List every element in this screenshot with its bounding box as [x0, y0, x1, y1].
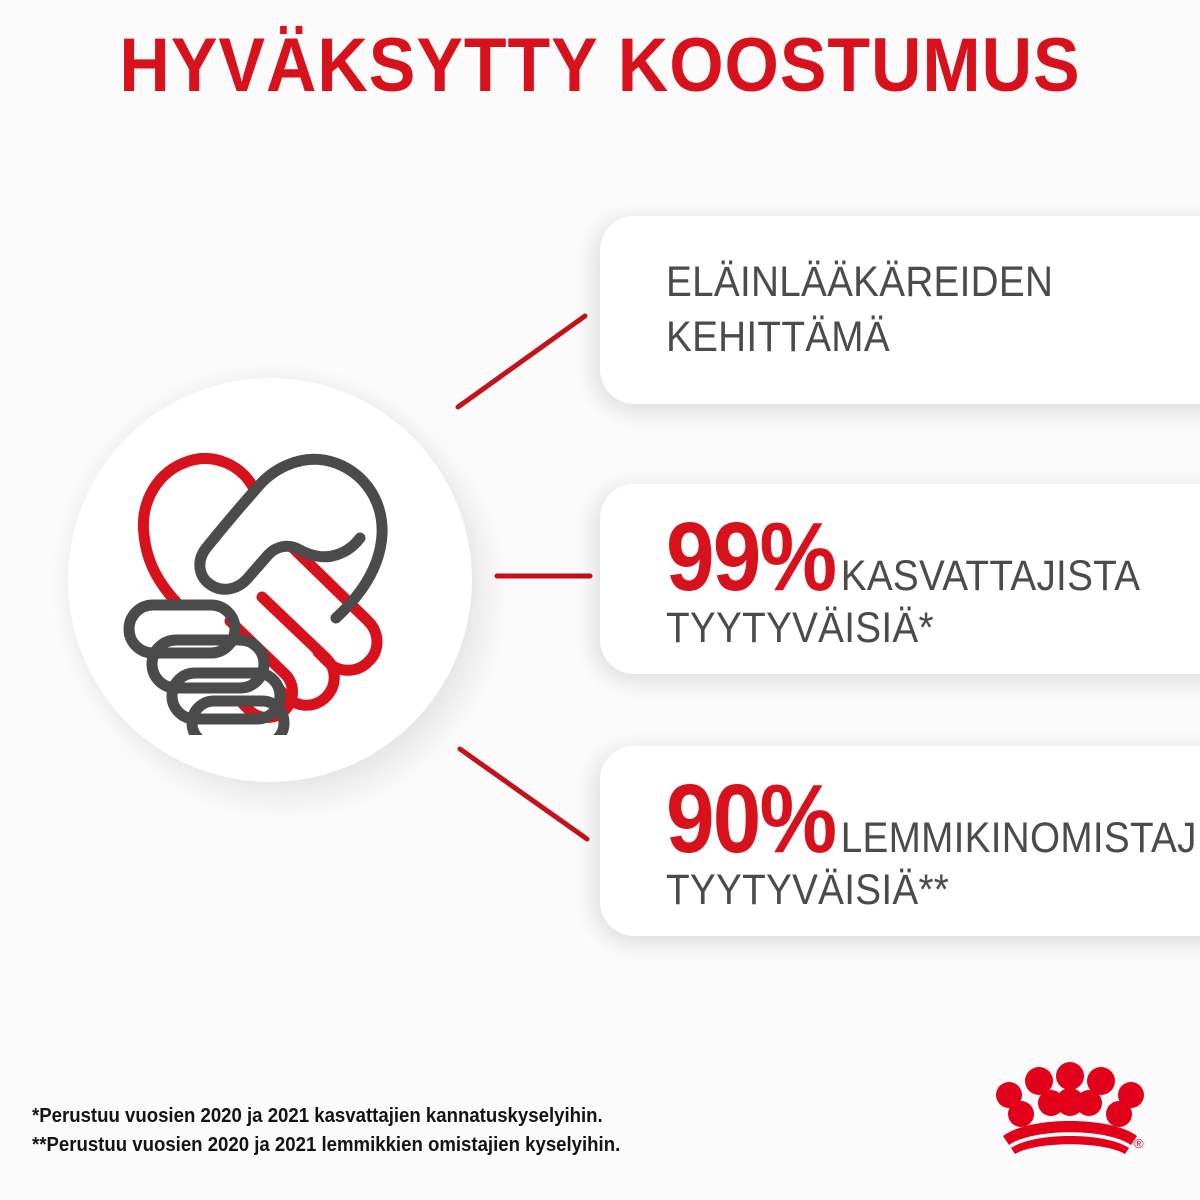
card-3-stat-line: 90%LEMMIKINOMISTAJISTA — [666, 770, 1161, 867]
info-card-owner-satisfaction: 90%LEMMIKINOMISTAJISTA TYYTYVÄISIÄ** — [600, 746, 1200, 936]
card-3-percent: 90% — [666, 764, 835, 873]
card-2-stat-line: 99%KASVATTAJISTA — [666, 508, 1161, 605]
footnote-line-2: **Perustuu vuosien 2020 ja 2021 lemmikki… — [32, 1131, 620, 1160]
royal-canin-crown-logo: ® — [995, 1058, 1145, 1156]
card-2-percent: 99% — [666, 502, 835, 611]
connector-line-1 — [450, 306, 595, 416]
footnotes: *Perustuu vuosien 2020 ja 2021 kasvattaj… — [32, 1102, 620, 1160]
card-3-word: LEMMIKINOMISTAJISTA — [841, 814, 1200, 862]
footnote-line-1: *Perustuu vuosien 2020 ja 2021 kasvattaj… — [32, 1102, 620, 1131]
page-title: HYVÄKSYTTY KOOSTUMUS — [48, 26, 1152, 106]
info-card-breeder-satisfaction: 99%KASVATTAJISTA TYYTYVÄISIÄ* — [600, 484, 1200, 674]
info-card-vet-developed: ELÄINLÄÄKÄREIDEN KEHITTÄMÄ — [600, 216, 1200, 404]
card-3-line-2: TYYTYVÄISIÄ** — [666, 869, 1161, 912]
card-1-line-2: KEHITTÄMÄ — [666, 310, 1161, 365]
infographic-canvas: HYVÄKSYTTY KOOSTUMUS — [0, 0, 1200, 1200]
handshake-heart-icon — [96, 425, 426, 735]
connector-line-2 — [492, 566, 597, 586]
connector-line-3 — [452, 740, 597, 850]
card-2-line-2: TYYTYVÄISIÄ* — [666, 607, 1161, 650]
card-2-word: KASVATTAJISTA — [841, 552, 1141, 600]
card-1-line-1: ELÄINLÄÄKÄREIDEN — [666, 255, 1161, 310]
registered-mark: ® — [1134, 1136, 1144, 1151]
